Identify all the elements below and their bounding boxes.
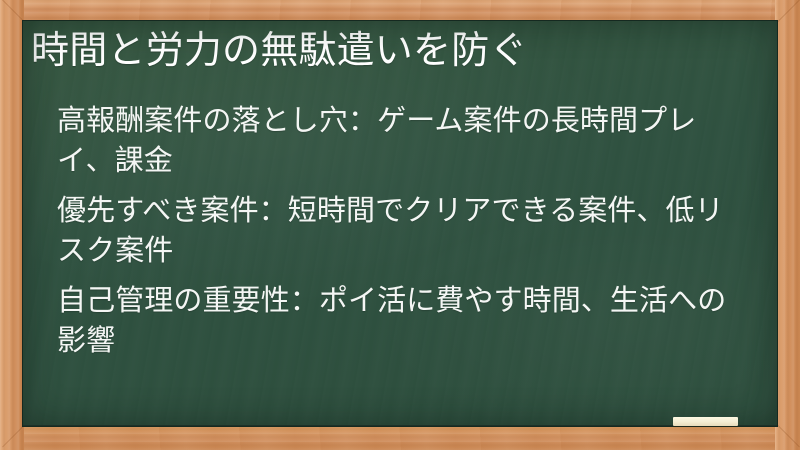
wood-frame-top-rail: [0, 0, 800, 22]
slide-title: 時間と労力の無駄遣いを防ぐ: [31, 29, 751, 74]
bullet-item: 自己管理の重要性：ポイ活に費やす時間、生活への影響: [57, 281, 749, 361]
chalkboard-surface: 時間と労力の無駄遣いを防ぐ 高報酬案件の落とし穴：ゲーム案件の長時間プレイ、課金…: [23, 21, 777, 425]
slide-content: 時間と労力の無駄遣いを防ぐ 高報酬案件の落とし穴：ゲーム案件の長時間プレイ、課金…: [23, 21, 777, 425]
chalk-stick-icon: [673, 417, 738, 426]
wood-frame-right-stile: [775, 0, 800, 450]
wood-frame-bottom-ledge: [0, 426, 800, 450]
bullet-item: 優先すべき案件：短時間でクリアできる案件、低リスク案件: [57, 191, 749, 271]
bullet-item: 高報酬案件の落とし穴：ゲーム案件の長時間プレイ、課金: [57, 101, 749, 181]
chalkboard-slide: 時間と労力の無駄遣いを防ぐ 高報酬案件の落とし穴：ゲーム案件の長時間プレイ、課金…: [0, 0, 800, 450]
wood-frame-left-stile: [0, 0, 24, 450]
slide-bullet-list: 高報酬案件の落とし穴：ゲーム案件の長時間プレイ、課金 優先すべき案件：短時間でク…: [57, 101, 749, 361]
